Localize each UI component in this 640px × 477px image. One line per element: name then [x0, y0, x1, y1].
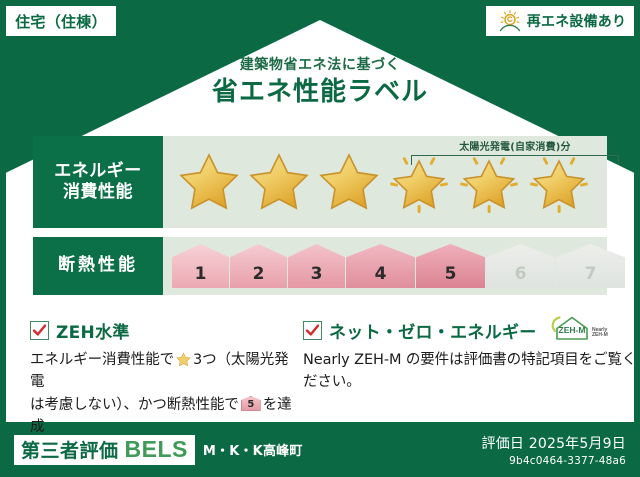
criteria-net-zero: ネット・ゼロ・エネルギー ZEH-M Nearly ZEH-M Nearly Z… [300, 318, 640, 439]
energy-performance-label: 住宅（住棟） 再エネ設備あり 建築物省エネ法 [0, 0, 640, 477]
star-icon [245, 147, 313, 213]
insulation-grade-badge: 3 [288, 244, 345, 288]
star-solar-icon [455, 147, 523, 213]
bels-label: 第三者評価 [21, 436, 119, 463]
zeh-m-logo-icon: ZEH-M Nearly ZEH-M [548, 314, 612, 346]
bels-badge: 第三者評価 BELS [14, 435, 195, 465]
insulation-grade-badge-inactive: 6 [486, 244, 555, 288]
checkbox-zeh [30, 321, 49, 340]
housing-type-label: 住宅（住棟） [15, 11, 107, 32]
inline-star-icon [175, 351, 192, 367]
footer-meta: 評価日 2025年5月9日 9b4c0464-3377-48a6 [482, 433, 627, 467]
criteria-net-zero-title: ネット・ゼロ・エネルギー [329, 318, 537, 343]
star-icon [175, 147, 243, 213]
page-title: 省エネ性能ラベル [0, 78, 640, 108]
star-rating-group [163, 147, 593, 217]
svg-text:ZEH-M: ZEH-M [558, 325, 585, 335]
insulation-grade-badge-inactive: 7 [556, 244, 625, 288]
energy-performance-label: エネルギー 消費性能 [33, 136, 163, 228]
insulation-grade-badge: 5 [416, 244, 485, 288]
sun-renewable-icon [497, 9, 523, 33]
title-subtitle: 建築物省エネ法に基づく [0, 57, 640, 74]
check-icon [305, 323, 320, 338]
star-solar-icon [385, 147, 453, 213]
criteria-zeh-header: ZEH水準 [30, 318, 300, 342]
energy-performance-body: 太陽光発電(自家消費)分 [163, 136, 607, 228]
inline-grade-badge: 5 [241, 396, 261, 411]
energy-performance-row: エネルギー 消費性能 太陽光発電(自家消費)分 [33, 136, 607, 228]
renewable-equipment-label: 再エネ設備あり [527, 11, 626, 31]
criteria-zeh-title: ZEH水準 [56, 318, 130, 343]
renewable-equipment-badge: 再エネ設備あり [486, 6, 634, 36]
insulation-grade-badge: 4 [346, 244, 415, 288]
insulation-performance-row: 断熱性能 1 2 3 4 5 [33, 237, 607, 295]
evaluation-date: 評価日 2025年5月9日 [482, 433, 627, 453]
title-block: 建築物省エネ法に基づく 省エネ性能ラベル [0, 57, 640, 108]
criteria-zeh: ZEH水準 エネルギー消費性能で3つ（太陽光発電は考慮しない）、かつ断熱性能で5… [0, 318, 300, 439]
check-icon [32, 323, 47, 338]
footer: 第三者評価 BELS M・K・K高峰町 評価日 2025年5月9日 9b4c04… [0, 422, 640, 477]
insulation-grade-badge: 2 [230, 244, 287, 288]
housing-type-badge: 住宅（住棟） [6, 6, 116, 36]
insulation-grade-group: 1 2 3 4 5 6 [163, 244, 625, 288]
building-name: M・K・K高峰町 [203, 440, 303, 459]
criteria-net-zero-body: Nearly ZEH-M の要件は評価書の特記項目をご覧ください。 [303, 349, 640, 394]
star-icon [315, 147, 383, 213]
criteria-section: ZEH水準 エネルギー消費性能で3つ（太陽光発電は考慮しない）、かつ断熱性能で5… [0, 318, 640, 439]
insulation-performance-body: 1 2 3 4 5 6 [163, 237, 625, 295]
svg-text:ZEH-M: ZEH-M [592, 332, 608, 338]
bels-word: BELS [125, 436, 188, 463]
criteria-net-zero-header: ネット・ゼロ・エネルギー ZEH-M Nearly ZEH-M [303, 318, 640, 342]
insulation-performance-label: 断熱性能 [33, 237, 163, 295]
ratings-section: エネルギー 消費性能 太陽光発電(自家消費)分 [33, 136, 607, 295]
checkbox-net-zero [303, 321, 322, 340]
evaluation-id: 9b4c0464-3377-48a6 [482, 455, 627, 467]
insulation-grade-badge: 1 [172, 244, 229, 288]
star-solar-icon [525, 147, 593, 213]
